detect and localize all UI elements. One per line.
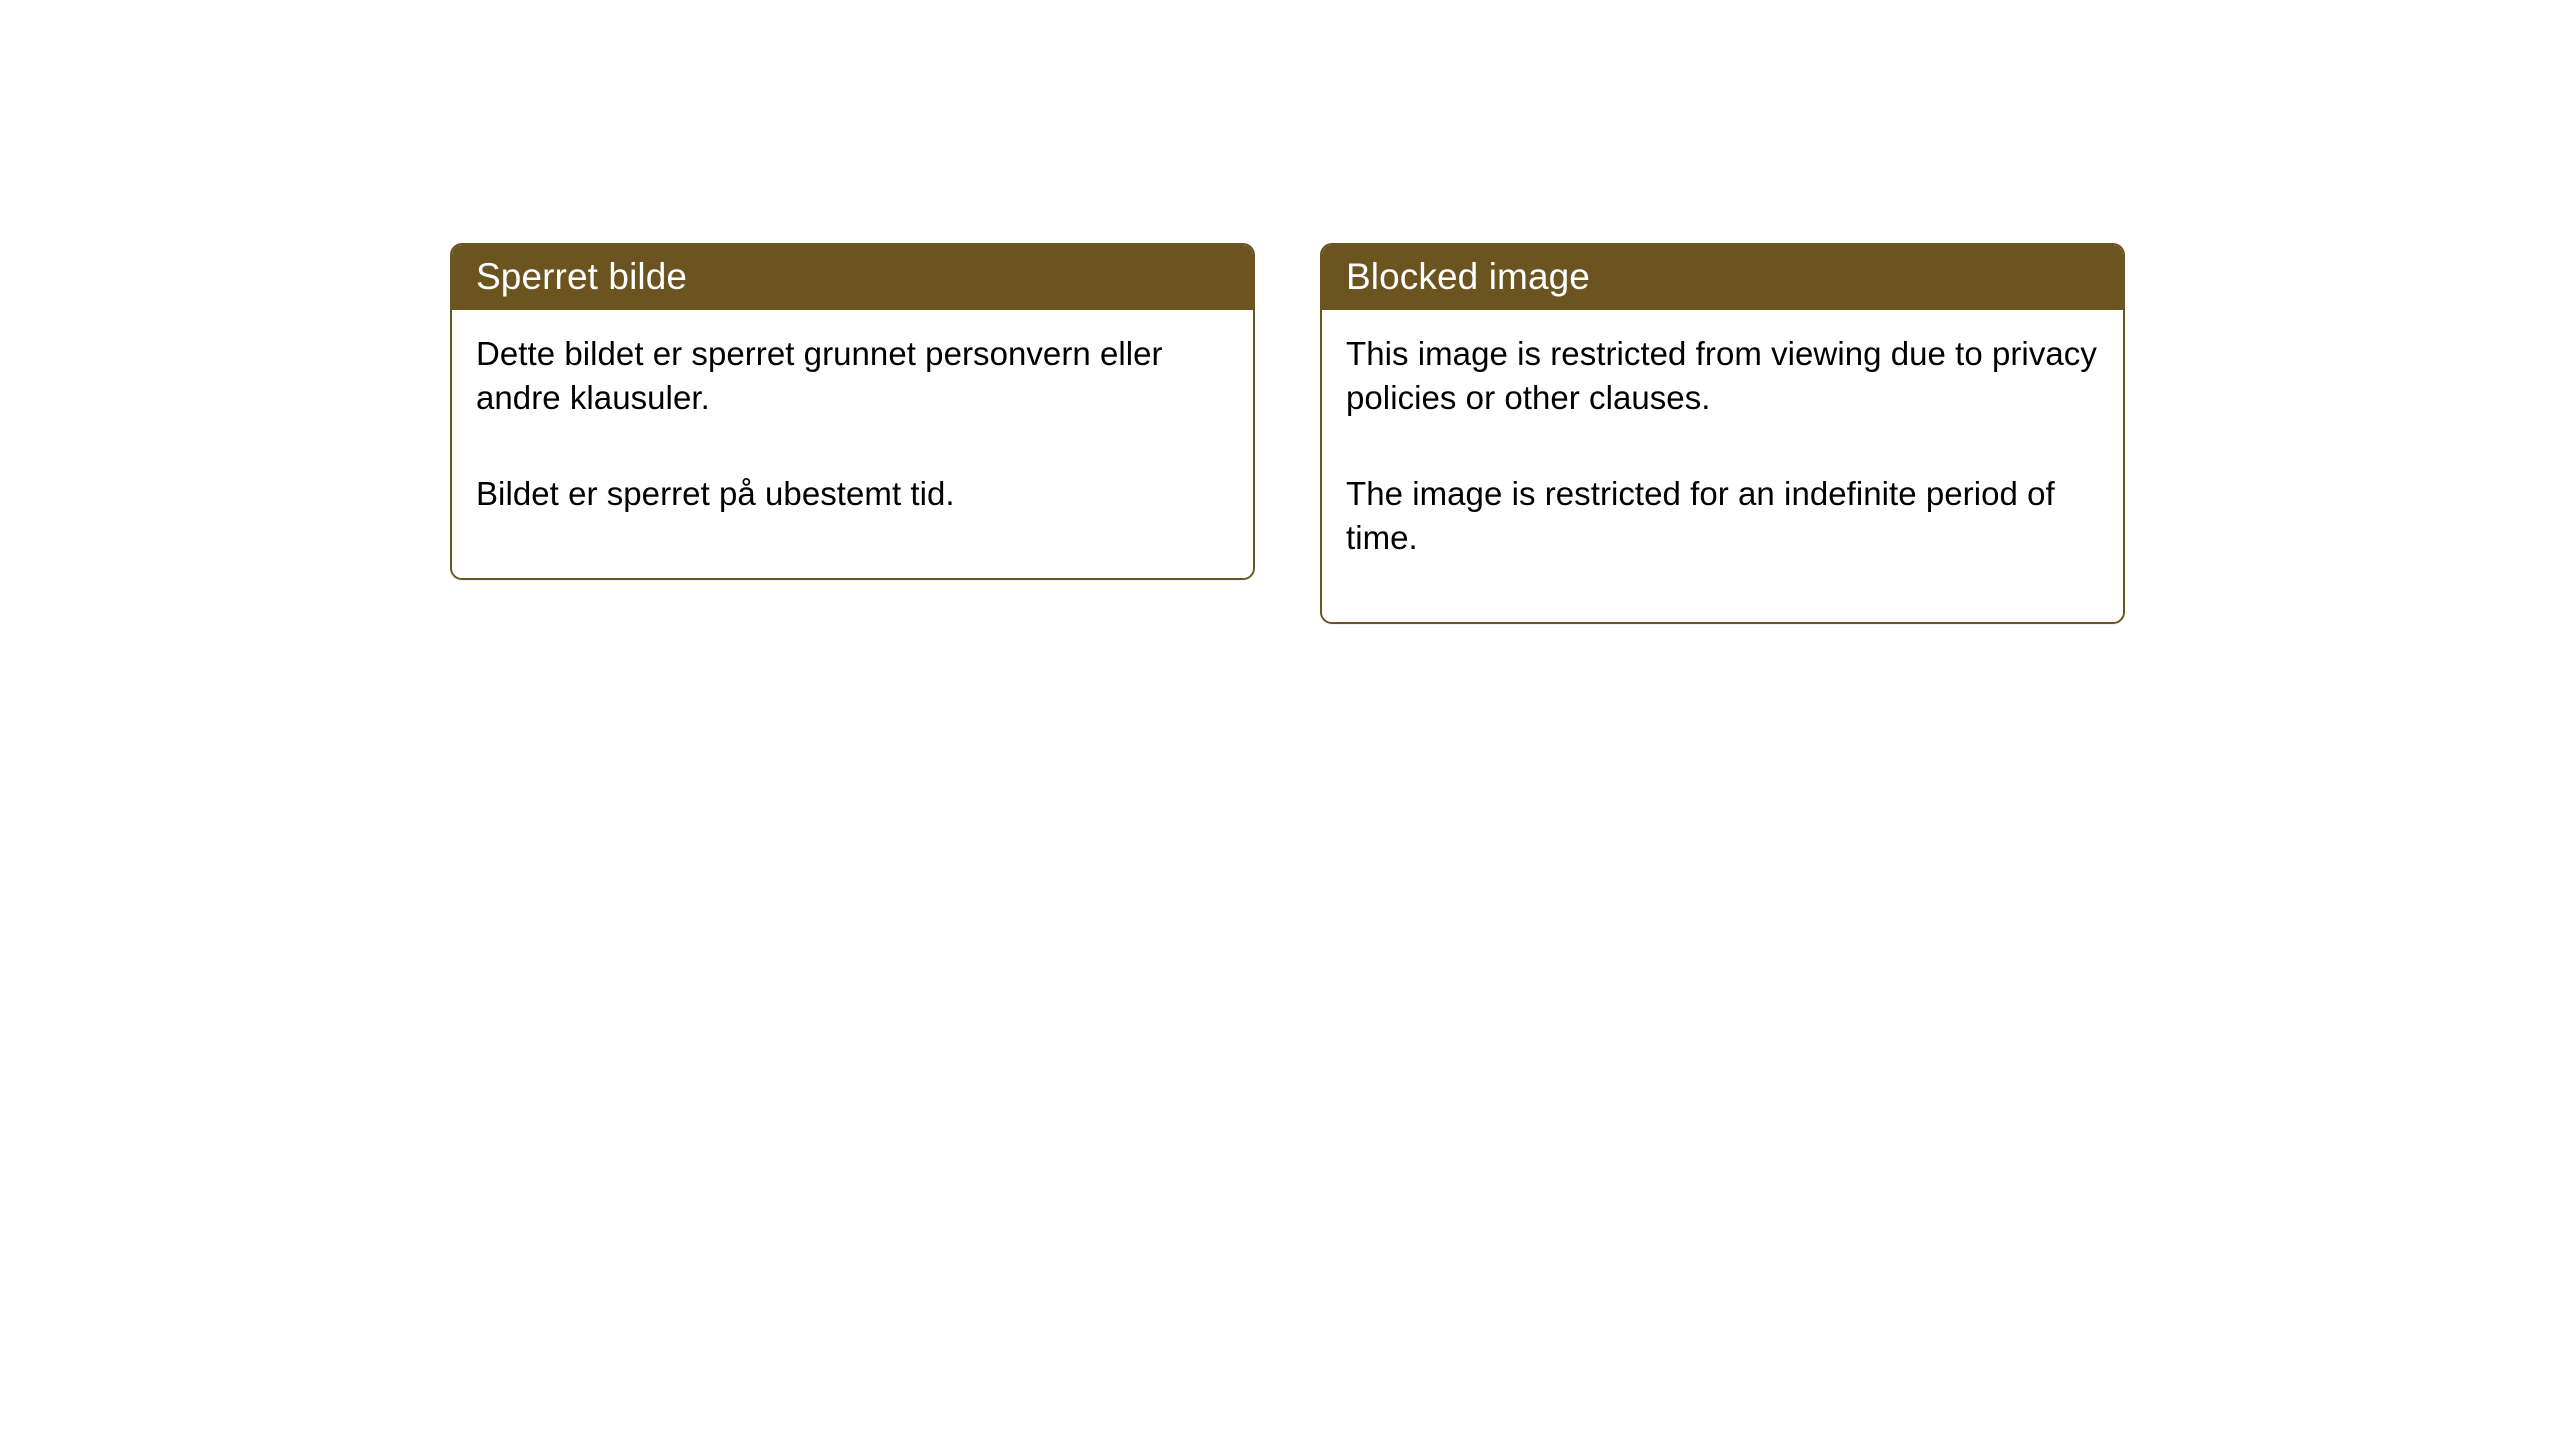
card-header-title-en: Blocked image: [1322, 245, 2123, 310]
card-body-no: Dette bildet er sperret grunnet personve…: [452, 310, 1253, 578]
notice-paragraph-secondary-no: Bildet er sperret på ubestemt tid.: [476, 472, 1229, 516]
page-root: Sperret bilde Dette bildet er sperret gr…: [0, 0, 2560, 1440]
blocked-image-notice-card-no: Sperret bilde Dette bildet er sperret gr…: [450, 243, 1255, 580]
blocked-image-notice-card-en: Blocked image This image is restricted f…: [1320, 243, 2125, 624]
card-body-en: This image is restricted from viewing du…: [1322, 310, 2123, 622]
notice-cards-container: Sperret bilde Dette bildet er sperret gr…: [450, 243, 2125, 624]
notice-paragraph-secondary-en: The image is restricted for an indefinit…: [1346, 472, 2099, 560]
notice-paragraph-primary-en: This image is restricted from viewing du…: [1346, 332, 2099, 420]
notice-paragraph-primary-no: Dette bildet er sperret grunnet personve…: [476, 332, 1229, 420]
card-header-title-no: Sperret bilde: [452, 245, 1253, 310]
